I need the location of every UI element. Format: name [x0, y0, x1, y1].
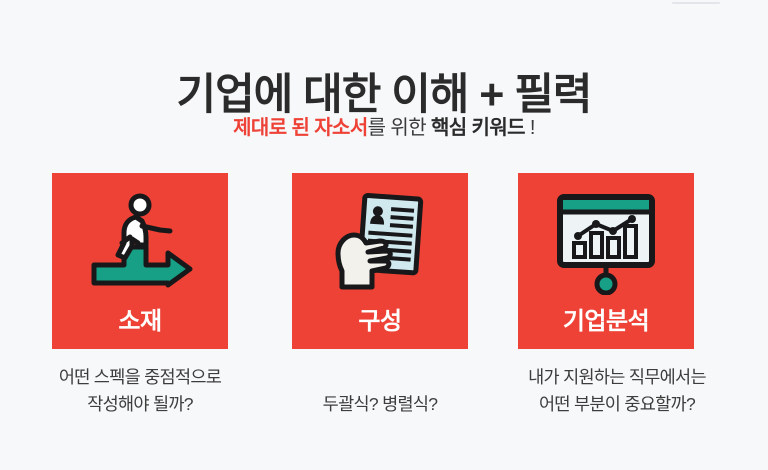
keyword-card-label: 소재	[52, 308, 228, 336]
hand-holding-resume-document-icon	[292, 187, 468, 299]
caption-line: 작성해야 될까?	[8, 391, 272, 418]
keyword-card-label: 구성	[292, 308, 468, 336]
caption-line: 두괄식? 병렬식?	[272, 391, 488, 418]
keyword-card-company-analysis[interactable]: 기업분석	[518, 173, 694, 349]
keyword-card-material[interactable]: 소재	[52, 173, 228, 349]
keyword-card-structure[interactable]: 구성	[292, 173, 468, 349]
subtitle-strong: 핵심 키워드	[431, 117, 525, 139]
subtitle-mid: 를 위한	[368, 117, 431, 139]
caption-line: 내가 지원하는 직무에서는	[478, 364, 756, 391]
caption-group: 어떤 스펙을 중점적으로 작성해야 될까? 두괄식? 병렬식? 내가 지원하는 …	[0, 362, 768, 432]
slide-root: 기업에 대한 이해 + 필력 제대로 된 자소서를 위한 핵심 키워드 !	[0, 0, 768, 470]
caption-company-analysis: 내가 지원하는 직무에서는 어떤 부분이 중요할까?	[478, 364, 756, 418]
subtitle-end: !	[525, 117, 535, 139]
presentation-board-chart-icon	[518, 187, 694, 299]
top-edge-divider	[672, 2, 720, 4]
subtitle-highlight: 제대로 된 자소서	[233, 117, 368, 139]
caption-material: 어떤 스펙을 중점적으로 작성해야 될까?	[8, 364, 272, 418]
caption-structure: 두괄식? 병렬식?	[272, 391, 488, 418]
keyword-card-label: 기업분석	[518, 308, 694, 336]
person-climbing-stairs-arrow-icon	[52, 187, 228, 299]
caption-line: 어떤 스펙을 중점적으로	[8, 364, 272, 391]
page-subtitle: 제대로 된 자소서를 위한 핵심 키워드 !	[0, 115, 768, 141]
keyword-card-group: 소재	[0, 173, 768, 349]
caption-line: 어떤 부분이 중요할까?	[478, 391, 756, 418]
page-title: 기업에 대한 이해 + 필력	[0, 70, 768, 120]
